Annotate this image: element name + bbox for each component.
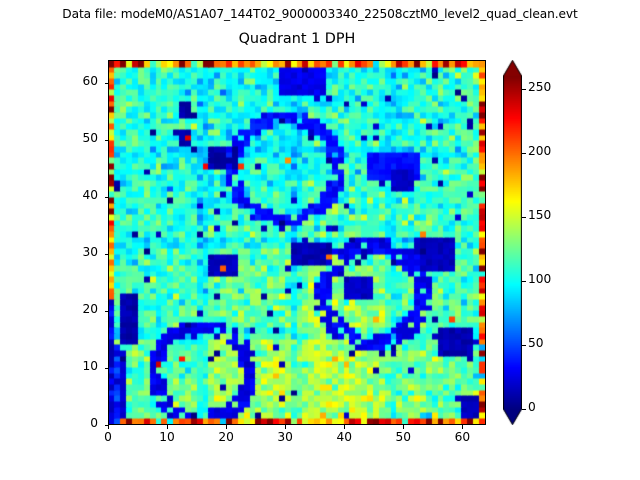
y-tick-label: 40 [58,188,98,202]
colorbar-tick-label: 200 [528,144,551,158]
y-tick-label: 60 [58,74,98,88]
x-tick-label: 20 [206,430,246,444]
x-tick-mark [108,425,109,429]
colorbar-tick-label: 150 [528,208,551,222]
y-tick-mark [105,83,109,84]
detector-plane-histogram [109,61,485,424]
y-tick-mark [105,425,109,426]
x-tick-mark [285,425,286,429]
colorbar-tick-mark [522,153,526,154]
y-tick-label: 10 [58,359,98,373]
page-title: Quadrant 1 DPH [108,31,486,47]
x-tick-label: 40 [324,430,364,444]
x-tick-mark [226,425,227,429]
matplotlib-figure: Data file: modeM0/AS1A07_144T02_90000033… [0,0,640,480]
x-tick-label: 50 [383,430,423,444]
x-tick-label: 30 [265,430,305,444]
y-tick-label: 0 [58,416,98,430]
x-tick-mark [403,425,404,429]
y-tick-mark [105,368,109,369]
x-tick-label: 10 [147,430,187,444]
y-tick-mark [105,254,109,255]
colorbar-tick-mark [522,345,526,346]
data-file-label: Data file: modeM0/AS1A07_144T02_90000033… [0,7,640,21]
x-tick-label: 0 [88,430,128,444]
colorbar-tick-label: 100 [528,272,551,286]
colorbar-tick-label: 50 [528,336,544,350]
colorbar[interactable] [503,60,522,425]
colorbar-tick-mark [522,281,526,282]
x-tick-mark [344,425,345,429]
x-tick-label: 60 [442,430,482,444]
x-tick-mark [462,425,463,429]
y-tick-mark [105,311,109,312]
colorbar-gradient [503,60,522,425]
colorbar-tick-mark [522,409,526,410]
y-tick-label: 50 [58,131,98,145]
y-tick-mark [105,197,109,198]
colorbar-tick-label: 0 [528,400,536,414]
colorbar-tick-label: 250 [528,80,551,94]
heatmap-axes[interactable] [108,60,486,425]
colorbar-tick-mark [522,217,526,218]
colorbar-tick-mark [522,89,526,90]
x-tick-mark [167,425,168,429]
y-tick-label: 30 [58,245,98,259]
y-tick-mark [105,140,109,141]
y-tick-label: 20 [58,302,98,316]
